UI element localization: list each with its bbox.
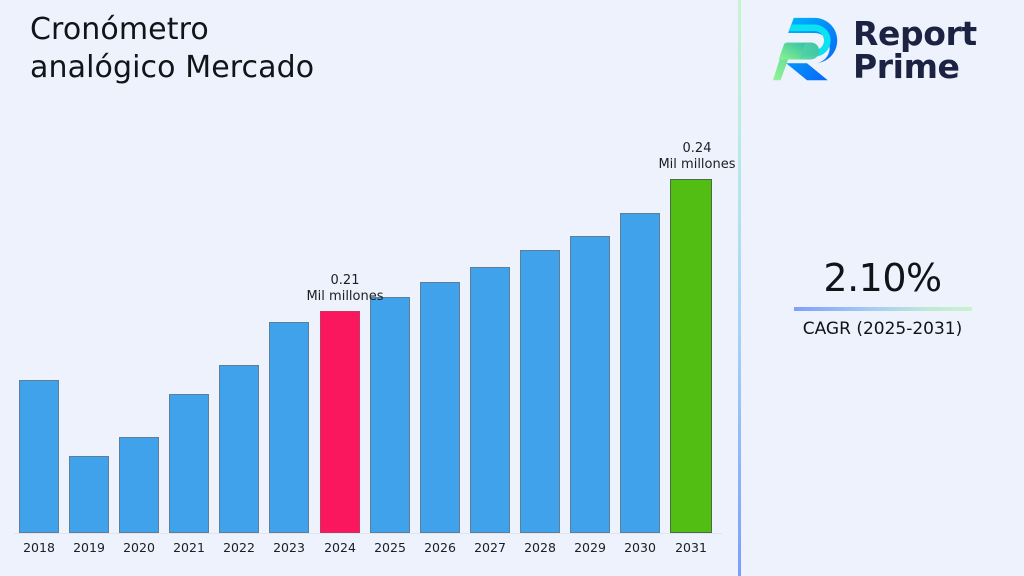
- bar-2018[interactable]: [19, 380, 59, 533]
- bar-2023[interactable]: [269, 322, 309, 533]
- bar-2030[interactable]: [620, 213, 660, 533]
- bar-2020[interactable]: [119, 437, 159, 533]
- bar-chart: 2018201920202021202220232024202520262027…: [0, 0, 738, 576]
- x-axis-label-2031: 2031: [661, 540, 721, 556]
- right-panel: Report Prime 2.10% CAGR (2025-2031): [741, 0, 1024, 576]
- chart-baseline-axis: [14, 533, 722, 534]
- bar-data-label-unit-2024: Mil millones: [265, 289, 425, 305]
- bar-2031[interactable]: [670, 179, 712, 533]
- slide-canvas: Cronómetro analógico Mercado 20182019202…: [0, 0, 1024, 576]
- bar-2021[interactable]: [169, 394, 209, 533]
- bar-2025[interactable]: [370, 297, 410, 533]
- cagr-caption: CAGR (2025-2031): [741, 318, 1024, 340]
- cagr-divider-rule: [794, 307, 972, 311]
- report-prime-logo-icon: [773, 14, 841, 86]
- bar-2028[interactable]: [520, 250, 560, 533]
- bar-2019[interactable]: [69, 456, 109, 533]
- cagr-value: 2.10%: [741, 255, 1024, 301]
- bar-2024[interactable]: [320, 311, 360, 533]
- bar-2029[interactable]: [570, 236, 610, 533]
- bar-data-label-value-2024: 0.21: [265, 273, 425, 289]
- cagr-block: 2.10% CAGR (2025-2031): [741, 255, 1024, 340]
- brand-wordmark: Report Prime: [853, 17, 977, 83]
- bar-2022[interactable]: [219, 365, 259, 533]
- bar-2026[interactable]: [420, 282, 460, 533]
- bar-2027[interactable]: [470, 267, 510, 533]
- bar-data-label-2024: 0.21Mil millones: [265, 273, 425, 305]
- brand-logo[interactable]: Report Prime: [773, 14, 977, 86]
